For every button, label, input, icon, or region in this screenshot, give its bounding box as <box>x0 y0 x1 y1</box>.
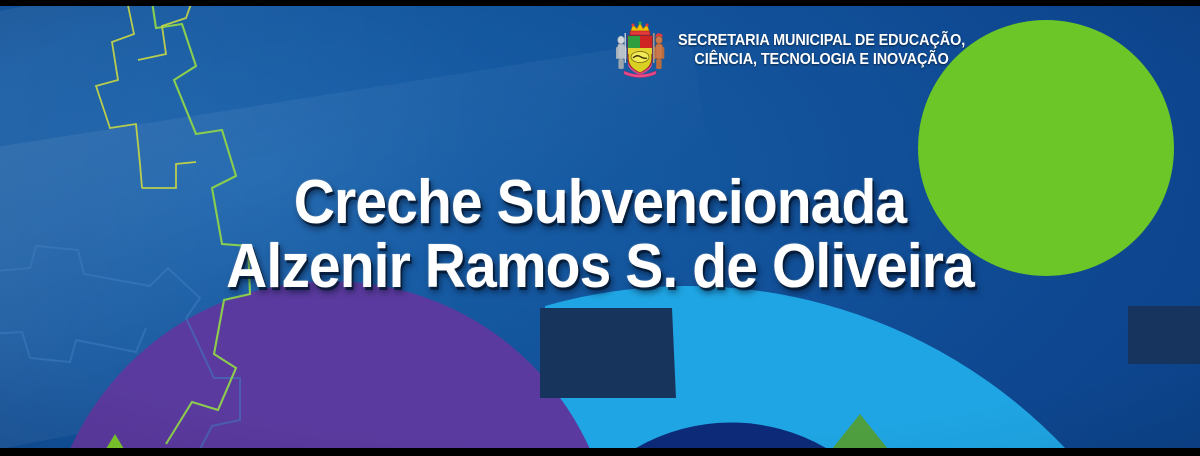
navy-square <box>540 308 676 398</box>
secretariat-name: SECRETARIA MUNICIPAL DE EDUCAÇÃO, CIÊNCI… <box>678 31 987 69</box>
green-triangle-center <box>828 414 892 448</box>
secretariat-line-1: SECRETARIA MUNICIPAL DE EDUCAÇÃO, <box>678 31 965 50</box>
secretariat-header: SECRETARIA MUNICIPAL DE EDUCAÇÃO, CIÊNCI… <box>612 20 987 80</box>
crest-supporter-right <box>653 33 664 69</box>
cyan-strip <box>676 302 760 324</box>
purple-circle <box>45 281 615 448</box>
crest-supporter-left <box>616 33 626 69</box>
gear-outline-faint-icon <box>0 246 240 448</box>
banner-stage: SECRETARIA MUNICIPAL DE EDUCAÇÃO, CIÊNCI… <box>0 6 1200 448</box>
navy-rect-right <box>1128 306 1200 364</box>
background-sheen-band-secondary <box>0 37 738 448</box>
gear-outline-large-icon <box>150 6 250 444</box>
gear-outline-small-icon <box>96 6 196 188</box>
cyan-quarter-circle <box>545 286 1065 448</box>
navy-quarter-circle <box>636 423 826 448</box>
municipal-coat-of-arms-icon <box>612 20 668 80</box>
letterbox-bar-top <box>0 0 1200 6</box>
secretariat-line-2: CIÊNCIA, TECNOLOGIA E INOVAÇÃO <box>678 50 965 69</box>
green-triangle-left <box>103 434 127 448</box>
letterbox-bar-bottom <box>0 448 1200 456</box>
institutional-banner: SECRETARIA MUNICIPAL DE EDUCAÇÃO, CIÊNCI… <box>0 0 1200 456</box>
